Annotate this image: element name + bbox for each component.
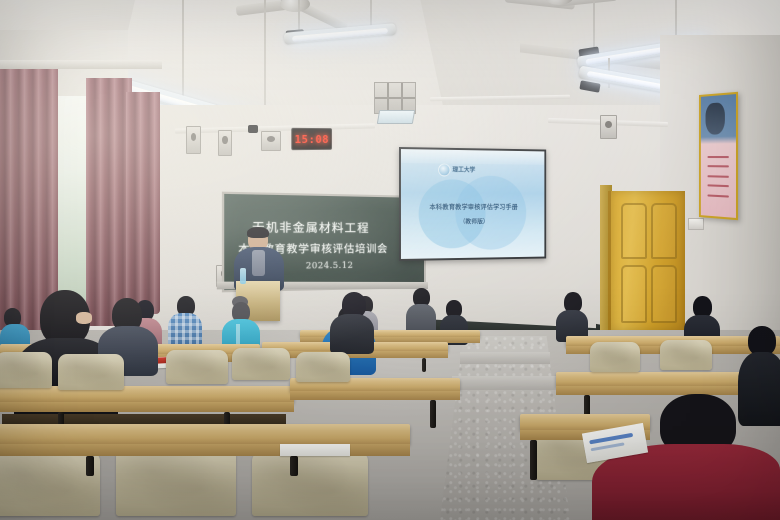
clock-time: 15:08 [294, 132, 329, 145]
desk-row-2-right [290, 378, 460, 422]
audience-person-a4 [168, 296, 202, 344]
papers-3 [280, 444, 350, 456]
audience-person-a8 [406, 288, 436, 334]
wall-speaker-3 [261, 131, 281, 151]
wall-speaker-1 [186, 126, 201, 154]
slide-title: 本科教育教学审核评估学习手册 [401, 201, 544, 211]
curtain-rod [0, 60, 162, 69]
classroom-photo-scene: 15:08 无机非金属材料工程 本科教育教学审核评估培训会 2024.5.12 … [0, 0, 780, 520]
floor-step-1 [460, 352, 550, 364]
curtain-3 [126, 92, 160, 314]
wall-camera [248, 125, 258, 133]
slide: 理工大学 本科教育教学审核评估学习手册 （教师版） [401, 149, 544, 259]
water-bottle [240, 268, 246, 284]
blackboard-line-3: 2024.5.12 [306, 261, 353, 271]
audience-person-a3 [330, 292, 374, 350]
seat-back-1 [0, 352, 52, 388]
seat-back-2 [58, 354, 124, 390]
portrait-face [706, 102, 726, 134]
seat-back-6 [590, 342, 640, 372]
university-logo-icon [438, 163, 450, 176]
audience-person-a10 [556, 292, 588, 340]
projection-screen: 理工大学 本科教育教学审核评估学习手册 （教师版） [399, 147, 546, 261]
seat-back-5 [296, 352, 350, 382]
floor-step-2 [452, 376, 558, 390]
slide-subtitle: （教师版） [401, 216, 544, 226]
digital-wall-clock: 15:08 [291, 128, 332, 150]
audience-person-right-edge [738, 326, 780, 422]
seat-back-7 [660, 340, 712, 370]
light-switch[interactable] [688, 218, 704, 230]
classroom-door[interactable] [608, 191, 685, 331]
framed-wall-portrait [699, 92, 738, 220]
seat-back-4 [232, 348, 290, 380]
seat-back-3 [166, 350, 228, 384]
wall-speaker-4 [600, 115, 617, 139]
university-logo-text: 理工大学 [452, 165, 475, 174]
wall-speaker-2 [218, 130, 232, 156]
projector-body [377, 110, 415, 124]
